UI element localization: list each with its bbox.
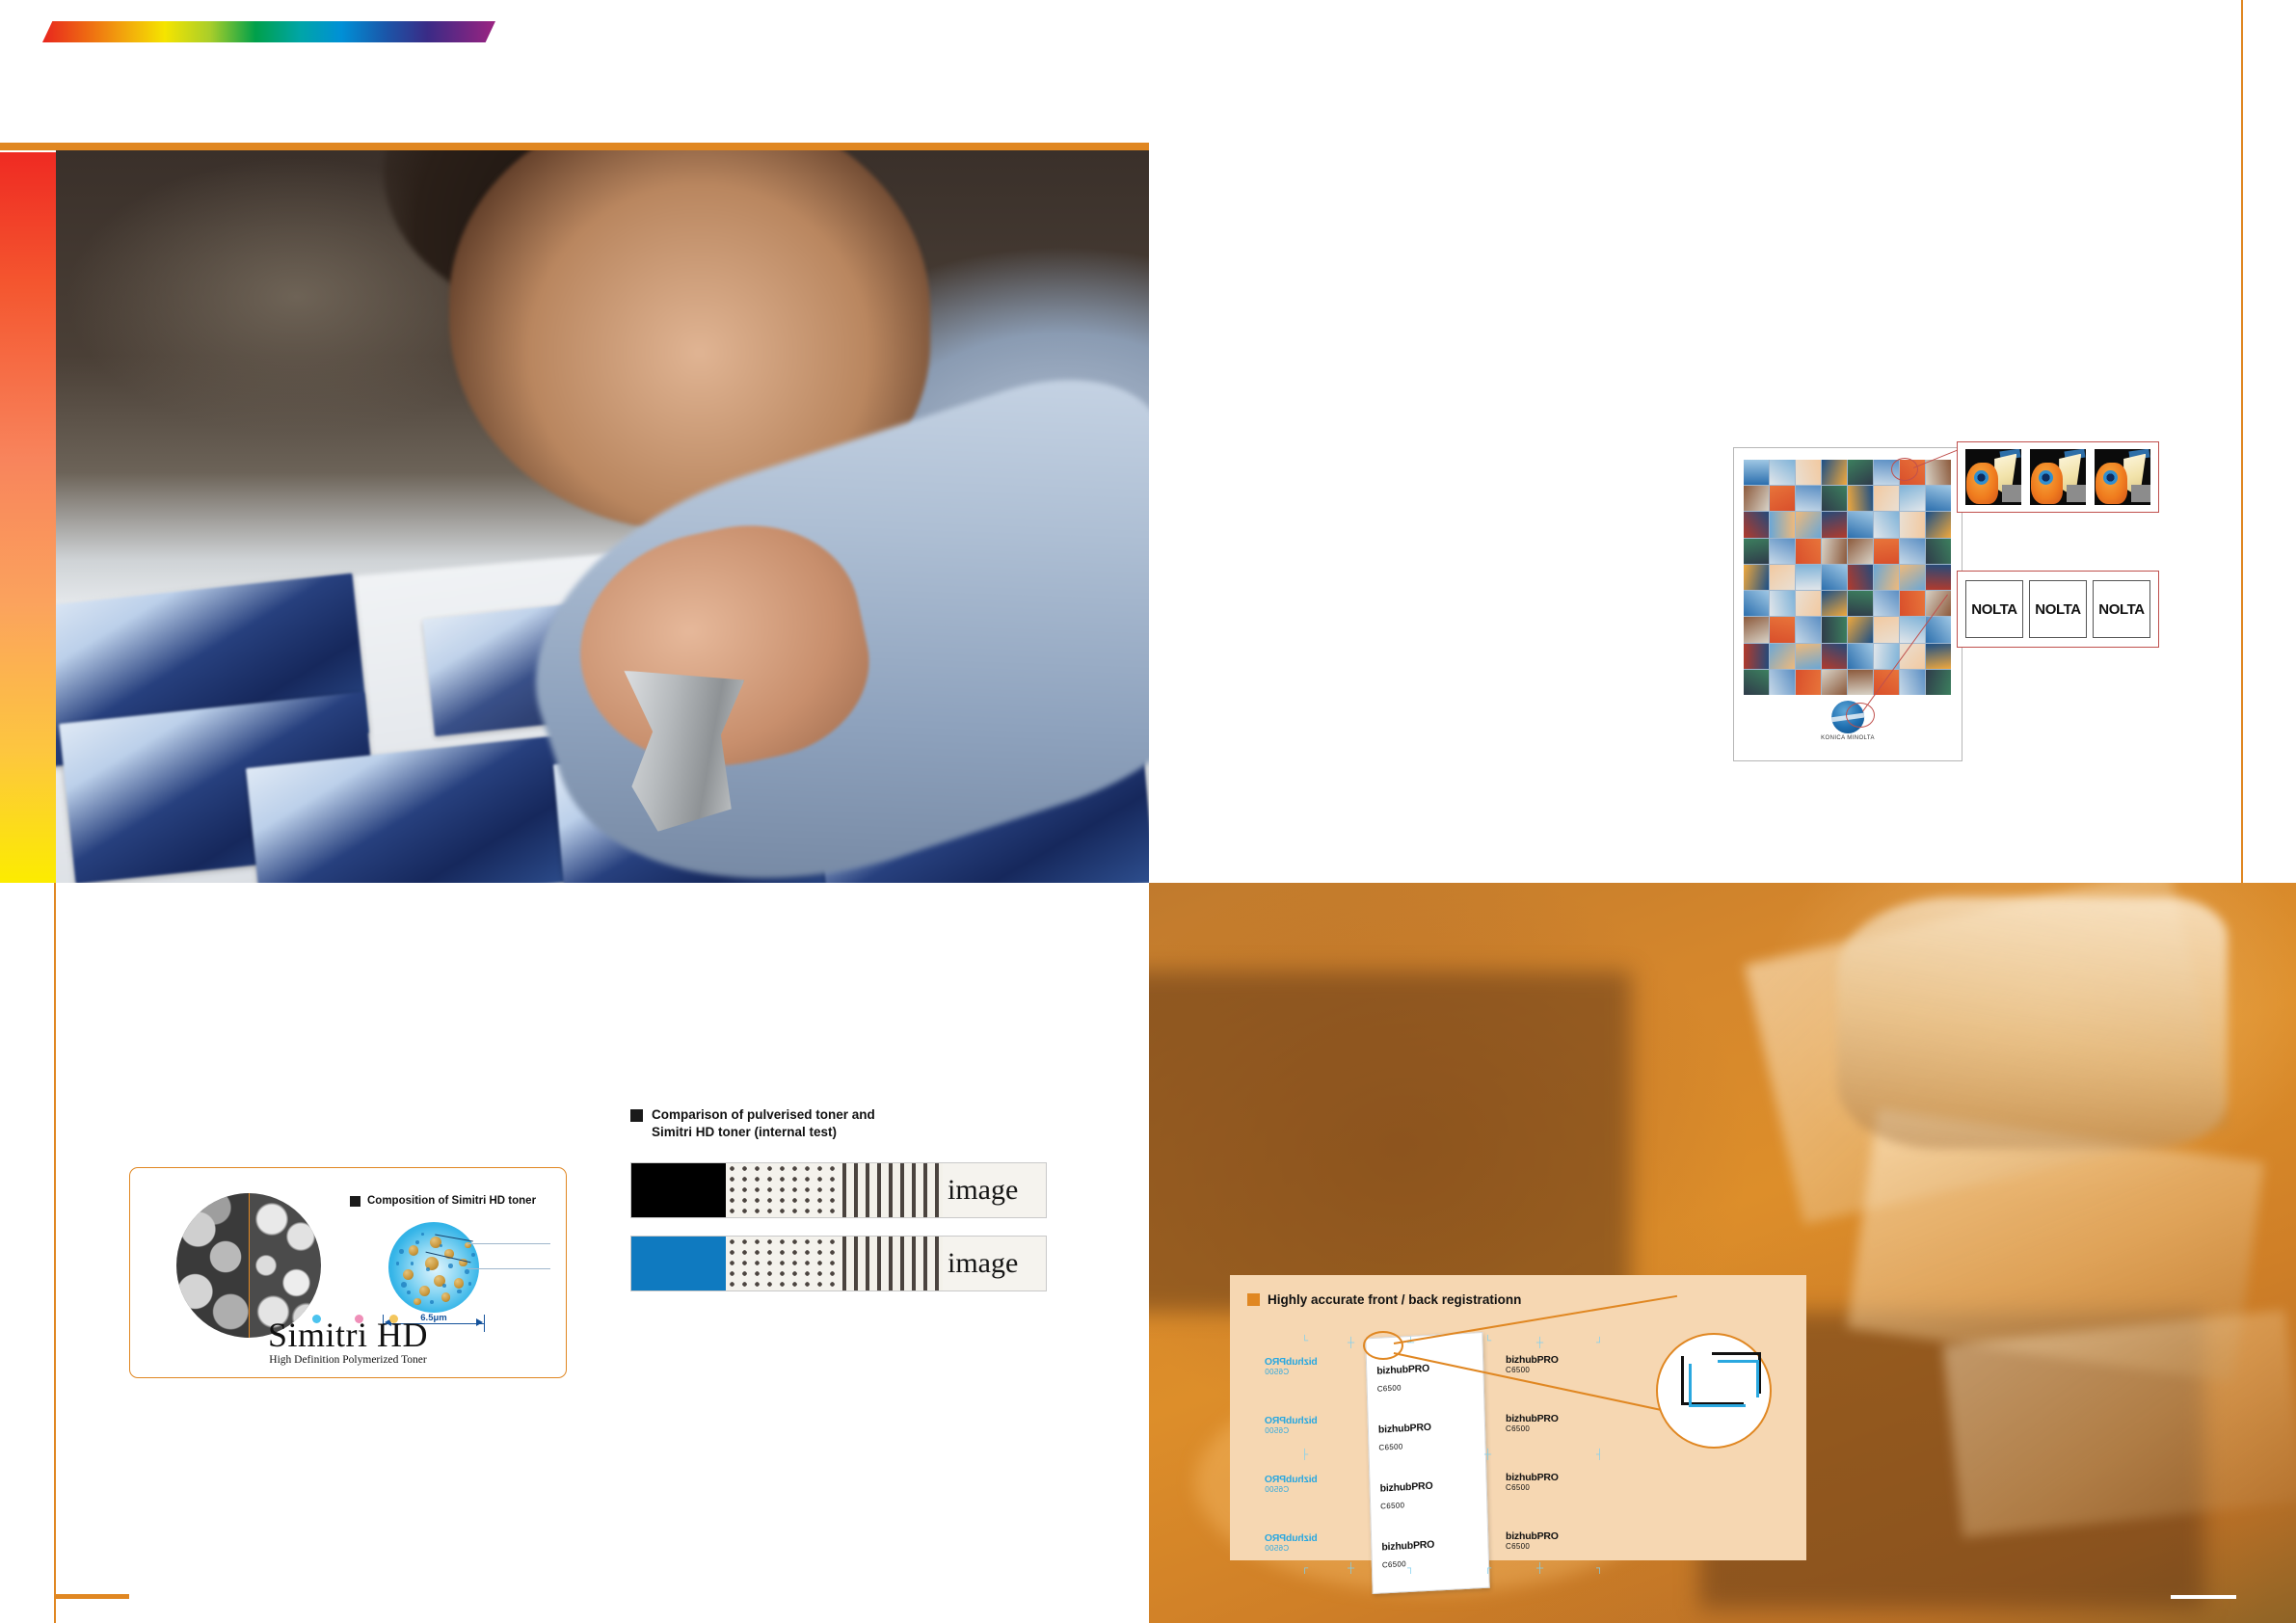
front-side-labels: bizhubPRO C6500 [1506,1354,1559,1374]
product-suffix: PRO [1265,1356,1286,1368]
poster-photo-tile [1926,617,1951,642]
poster-photo-tile [1796,565,1821,590]
product-name: bizhub [1506,1530,1537,1542]
poster-photo-tile [1848,486,1873,511]
product-suffix: PRO [1537,1530,1559,1542]
product-model: C6500 [1265,1544,1289,1553]
product-name: bizhub [1506,1354,1537,1366]
type-sample-patch: image [943,1163,1046,1217]
register-mark-icon: ┼ [1348,1564,1354,1574]
poster-photo-tile [1848,670,1873,695]
dot-magenta-icon [355,1315,363,1323]
poster-photo-tile [1874,565,1899,590]
product-model: C6500 [1382,1559,1406,1569]
poster-eye-circle-mark [1891,458,1918,481]
pigment-particle-icon [401,1282,407,1288]
product-suffix: PRO [1537,1413,1559,1424]
pigment-particle-icon [421,1233,424,1236]
register-mark-icon: ┼ [1536,1564,1543,1574]
poster-photo-tile [1744,670,1769,695]
poster-photo-tile [1874,512,1899,537]
poster-photo-tile [1770,591,1795,616]
poster-photo-tile [1926,486,1951,511]
fine-lines-patch [842,1237,943,1290]
front-side-labels: bizhubPRO C6500 [1506,1472,1559,1492]
register-mark-icon: ┤ [1596,1450,1603,1460]
poster-photo-tile [1822,591,1847,616]
photo-divider [249,1193,250,1338]
poster-photo-tile [1822,539,1847,564]
logo-detail-text: NOLTA [1971,601,2016,618]
registration-panel: Highly accurate front / back registratio… [1230,1275,1806,1560]
register-mark-icon: ┘ [1596,1339,1603,1348]
poster-photo-tile [1926,460,1951,485]
poster-photo-tile [1744,591,1769,616]
product-suffix: PRO [1537,1354,1559,1366]
poster-photo-tile [1744,460,1769,485]
poster-photo-tile [1796,644,1821,669]
pigment-particle-icon [465,1269,469,1274]
poster-photo-tile [1848,460,1873,485]
rainbow-rule-icon [42,21,495,42]
logo-detail-row: NOLTA NOLTA NOLTA [1965,577,2150,641]
label-line: bizhubPRO C6500 [1265,1474,1318,1497]
poster-photo-tile [1822,460,1847,485]
sheet-label: bizhubPRO C6500 [1376,1359,1430,1397]
pigment-particle-icon [411,1262,414,1265]
poster-photo-tile [1926,670,1951,695]
simitri-wordmark: Simitri HD High Definition Polymerized T… [130,1317,566,1366]
bottom-left-crop-tick [54,1594,129,1599]
comparison-title-text: Comparison of pulverised toner and Simit… [652,1106,875,1141]
poster-photo-tile [1900,539,1925,564]
register-corner-cyan-2 [1718,1360,1759,1397]
pigment-particle-icon [471,1253,475,1257]
poster-photo-tile [1770,486,1795,511]
halftone-dots-patch [726,1237,842,1290]
callout-line-upper [467,1243,550,1244]
register-mark-icon: ┐ [1407,1564,1414,1574]
simitri-tagline: High Definition Polymerized Toner [130,1354,566,1366]
product-name: bizhub [1506,1472,1537,1483]
pigment-particle-icon [457,1290,462,1294]
back-side-labels: bizhubPRO C6500 [1265,1532,1318,1556]
poster-photo-tile [1744,539,1769,564]
label-line: bizhubPRO C6500 [1265,1415,1318,1438]
product-model: C6500 [1506,1424,1530,1433]
product-name: bizhub [1506,1413,1537,1424]
poster-photo-tile [1822,670,1847,695]
eye-detail-tile [2030,449,2086,505]
product-suffix: PRO [1537,1472,1559,1483]
back-side-labels: bizhubPRO C6500 [1265,1415,1318,1438]
product-suffix: PRO [1265,1532,1286,1544]
solid-patch [631,1237,726,1290]
brochure-page: KONICA MINOLTA [0,0,2296,1623]
poster-photo-tile [1822,512,1847,537]
bullet-square-icon [1247,1293,1260,1306]
pigment-particle-icon [399,1249,404,1254]
registration-heading: Highly accurate front / back registratio… [1247,1292,1521,1307]
product-name: bizhub [1378,1423,1410,1436]
loupe-source-circle [1363,1331,1403,1360]
poster-photo-tile [1796,512,1821,537]
label-line: bizhubPRO C6500 [1265,1532,1318,1556]
poster-photo-tile [1796,670,1821,695]
register-mark-icon: └ [1484,1337,1491,1346]
label-line: bizhubPRO C6500 [1265,1356,1318,1379]
front-side-labels: bizhubPRO C6500 [1506,1530,1559,1551]
product-model: C6500 [1506,1366,1530,1374]
sheet-label: bizhubPRO C6500 [1379,1477,1433,1514]
poster-photo-tile [1796,591,1821,616]
registration-sample-sheet: bizhubPRO C6500 bizhubPRO C6500 bizhubPR… [1365,1332,1489,1594]
dot-yellow-icon [389,1315,398,1323]
product-suffix: PRO [1411,1480,1432,1493]
konica-minolta-logo-text: KONICA MINOLTA [1821,735,1875,741]
product-model: C6500 [1380,1501,1404,1510]
logo-detail-box: NOLTA NOLTA NOLTA [1957,571,2159,648]
register-mark-icon: ┌ [1484,1564,1491,1574]
poster-photo-tile [1770,644,1795,669]
fine-lines-patch [842,1163,943,1217]
product-suffix: PRO [1265,1474,1286,1485]
product-name: bizhub [1286,1415,1318,1426]
poster-photo-tile [1900,670,1925,695]
poster-photo-tile [1900,591,1925,616]
back-side-labels: bizhubPRO C6500 [1265,1474,1318,1497]
product-model: C6500 [1377,1383,1402,1393]
solid-patch [631,1163,726,1217]
register-mark-icon: ├ [1301,1450,1308,1460]
logo-detail-text: NOLTA [2035,601,2080,618]
simitri-wordmark-text: Simitri HD [268,1316,428,1354]
poster-photo-tile [1848,617,1873,642]
register-mark-icon: ┼ [1536,1339,1543,1348]
eye-detail-tile [2095,449,2150,505]
background-patch [2002,485,2021,501]
eye-detail-box [1957,441,2159,513]
comparison-title-line2: Simitri HD toner (internal test) [652,1125,837,1139]
wax-particle-icon [454,1278,464,1288]
register-mark-icon: ┐ [1596,1564,1603,1574]
poster-photo-tile [1926,512,1951,537]
poster-photo-tile [1770,539,1795,564]
eye-detail-row [1965,448,2150,506]
toner-comparison-figure: Comparison of pulverised toner and Simit… [630,1106,1051,1286]
simitri-hd-panel: Composition of Simitri HD toner 6.5μm Si… [129,1167,567,1378]
poster-logo-circle-mark [1846,703,1875,728]
poster-photo-tile [1926,644,1951,669]
poster-sample-figure: KONICA MINOLTA [1733,447,1962,761]
registration-heading-text: Highly accurate front / back registratio… [1268,1292,1521,1307]
poster-photo-tile [1770,460,1795,485]
poster-photo-tile [1796,539,1821,564]
left-color-strip [0,152,56,883]
pigment-particle-icon [440,1244,443,1248]
product-model: C6500 [1265,1426,1289,1435]
halftone-dots-patch [726,1163,842,1217]
composition-heading: Composition of Simitri HD toner [350,1195,536,1207]
product-name: bizhub [1380,1481,1412,1495]
logo-detail-text: NOLTA [2098,601,2144,618]
eye-detail-tile [1965,449,2021,505]
front-side-labels: bizhubPRO C6500 [1506,1413,1559,1433]
bullet-square-icon [350,1196,360,1207]
product-name: bizhub [1286,1474,1318,1485]
poster-photo-tile [1900,512,1925,537]
pigment-particle-icon [426,1267,430,1271]
comparison-title-line1: Comparison of pulverised toner and [652,1107,875,1122]
panel-shadow-blob [1149,971,1631,1312]
product-suffix: PRO [1265,1415,1286,1426]
poster-photo-tile [1848,512,1873,537]
poster-photo-tile [1848,565,1873,590]
poster-photo-tile [1822,617,1847,642]
type-sample-text: image [948,1174,1018,1207]
pigment-particle-icon [442,1284,446,1288]
type-sample-text: image [948,1247,1018,1280]
product-model: C6500 [1506,1483,1530,1492]
comparison-row-simitri: image [630,1236,1047,1291]
register-mark-icon: └ [1301,1337,1308,1346]
poster-photo-tile [1744,512,1769,537]
pigment-particle-icon [396,1262,400,1265]
composition-heading-text: Composition of Simitri HD toner [367,1195,536,1207]
poster-photo-grid [1744,460,1951,695]
pigment-particle-icon [448,1264,453,1268]
bullet-square-icon [630,1109,643,1122]
pigment-particle-icon [415,1240,419,1244]
poster-photo-tile [1848,539,1873,564]
wax-particle-icon [419,1286,430,1296]
back-side-labels: bizhubPRO C6500 [1265,1356,1318,1379]
poster-photo-tile [1744,565,1769,590]
poster-photo-tile [1874,539,1899,564]
product-suffix: PRO [1413,1539,1434,1552]
background-patch [2131,485,2150,501]
poster-photo-tile [1874,591,1899,616]
wax-particle-icon [414,1298,421,1306]
poster-photo-tile [1822,565,1847,590]
poster-photo-tile [1744,486,1769,511]
poster-photo-tile [1900,565,1925,590]
poster-photo-tile [1796,460,1821,485]
comparison-row-pulverised: image [630,1162,1047,1218]
logo-detail-tile: NOLTA [2093,580,2150,638]
background-patch [2067,485,2086,501]
poster-photo-tile [1822,644,1847,669]
product-name: bizhub [1376,1364,1408,1377]
product-name: bizhub [1381,1540,1413,1554]
pigment-particle-icon [430,1300,434,1304]
poster-photo-tile [1900,486,1925,511]
poster-photo-tile [1848,644,1873,669]
hero-orange-rule [0,143,1149,150]
logo-detail-tile: NOLTA [2029,580,2087,638]
panel-operator-figure [1837,897,2228,1149]
product-model: C6500 [1506,1542,1530,1551]
poster-photo-tile [1796,486,1821,511]
poster-photo-tile [1822,486,1847,511]
left-crop-rule [54,883,56,1623]
product-model: C6500 [1378,1442,1402,1451]
pulverised-toner-half [176,1193,249,1338]
toner-particle-diagram [388,1222,479,1313]
register-mark-icon: ┼ [1484,1450,1491,1460]
product-model: C6500 [1265,1368,1289,1376]
product-suffix: PRO [1408,1363,1429,1375]
wax-particle-icon [441,1292,450,1301]
poster-photo-tile [1926,565,1951,590]
poster-photo-tile [1848,591,1873,616]
poster-photo-tile [1874,617,1899,642]
poster-photo-tile [1770,670,1795,695]
wax-particle-icon [403,1269,414,1280]
callout-line-lower [467,1268,550,1269]
logo-detail-tile: NOLTA [1965,580,2023,638]
poster-photo-tile [1770,565,1795,590]
loupe-magnified-circle [1656,1333,1772,1449]
poster-photo-tile [1770,512,1795,537]
product-model: C6500 [1265,1485,1289,1494]
sheet-label: bizhubPRO C6500 [1378,1418,1432,1455]
pigment-particle-icon [468,1282,472,1286]
hero-photo [56,150,1149,883]
type-sample-patch: image [943,1237,1046,1290]
product-suffix: PRO [1409,1422,1430,1434]
product-name: bizhub [1286,1532,1318,1544]
panel-newspaper-sheet [1943,1310,2296,1537]
registration-artwork: bizhubPRO C6500 bizhubPRO C6500 [1247,1325,1797,1551]
poster-photo-tile [1744,644,1769,669]
dot-cyan-icon [312,1315,321,1323]
register-mark-icon: ┌ [1301,1564,1308,1574]
bottom-right-crop-tick [2171,1595,2236,1599]
pigment-particle-icon [407,1290,411,1294]
comparison-title: Comparison of pulverised toner and Simit… [630,1106,1051,1141]
register-mark-icon: ┼ [1348,1339,1354,1348]
wax-particle-icon [409,1245,418,1255]
poster-photo-tile [1926,539,1951,564]
product-name: bizhub [1286,1356,1318,1368]
poster-photo-tile [1874,486,1899,511]
poster-photo-tile [1770,617,1795,642]
poster-photo-tile [1744,617,1769,642]
right-crop-rule [2241,0,2243,883]
poster-photo-tile [1796,617,1821,642]
